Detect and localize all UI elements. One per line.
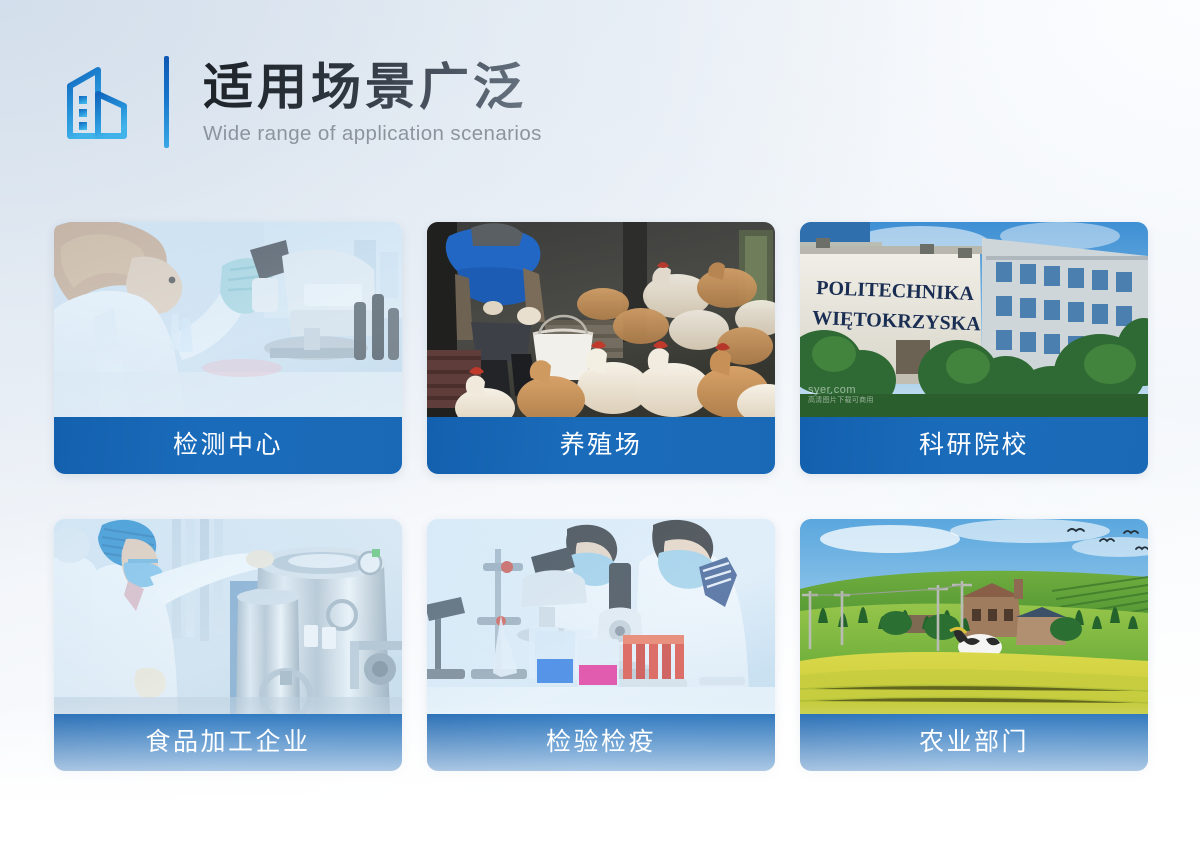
card-label-text: 科研院校 — [919, 433, 1029, 458]
card-photo-agriculture-department — [800, 519, 1148, 714]
scenario-card-agriculture-department[interactable]: 农业部门 — [800, 519, 1148, 771]
header-divider — [164, 56, 169, 148]
card-label-text: 农业部门 — [919, 730, 1029, 755]
scenario-card-detection-center[interactable]: 检测中心 — [54, 222, 402, 474]
card-photo-research-institute: POLITECHNIKA WIĘTOKRZYSKA — [800, 222, 1148, 417]
scenario-card-breeding-farm[interactable]: 养殖场 — [427, 222, 775, 474]
application-scenarios-page: 适用场景广泛 Wide range of application scenari… — [0, 0, 1200, 852]
card-photo-inspection-quarantine — [427, 519, 775, 714]
card-photo-food-processing — [54, 519, 402, 714]
card-label-bar-inspection-quarantine[interactable]: 检验检疫 — [427, 714, 775, 771]
card-label-text: 检测中心 — [173, 433, 283, 458]
scenario-card-research-institute[interactable]: POLITECHNIKA WIĘTOKRZYSKA — [800, 222, 1148, 474]
page-subtitle: Wide range of application scenarios — [203, 122, 542, 146]
page-title: 适用场景广泛 — [203, 59, 542, 115]
scenario-card-grid: 检测中心 — [54, 222, 1148, 771]
scenario-card-inspection-quarantine[interactable]: 检验检疫 — [427, 519, 775, 771]
section-header: 适用场景广泛 Wide range of application scenari… — [62, 56, 542, 148]
card-photo-breeding-farm — [427, 222, 775, 417]
card-label-bar-research-institute[interactable]: 科研院校 — [800, 417, 1148, 474]
scenario-card-food-processing[interactable]: 食品加工企业 — [54, 519, 402, 771]
photo-tint-overlay — [54, 519, 402, 714]
card-photo-detection-center — [54, 222, 402, 417]
card-label-text: 食品加工企业 — [145, 730, 310, 755]
header-titles: 适用场景广泛 Wide range of application scenari… — [203, 59, 542, 146]
building-icon — [62, 64, 136, 140]
card-label-bar-agriculture-department[interactable]: 农业部门 — [800, 714, 1148, 771]
card-label-bar-food-processing[interactable]: 食品加工企业 — [54, 714, 402, 771]
photo-tint-overlay — [54, 222, 402, 417]
photo-tint-overlay — [427, 519, 775, 714]
card-label-bar-detection-center[interactable]: 检测中心 — [54, 417, 402, 474]
card-label-text: 检验检疫 — [546, 730, 656, 755]
card-label-bar-breeding-farm[interactable]: 养殖场 — [427, 417, 775, 474]
card-label-text: 养殖场 — [560, 433, 643, 458]
